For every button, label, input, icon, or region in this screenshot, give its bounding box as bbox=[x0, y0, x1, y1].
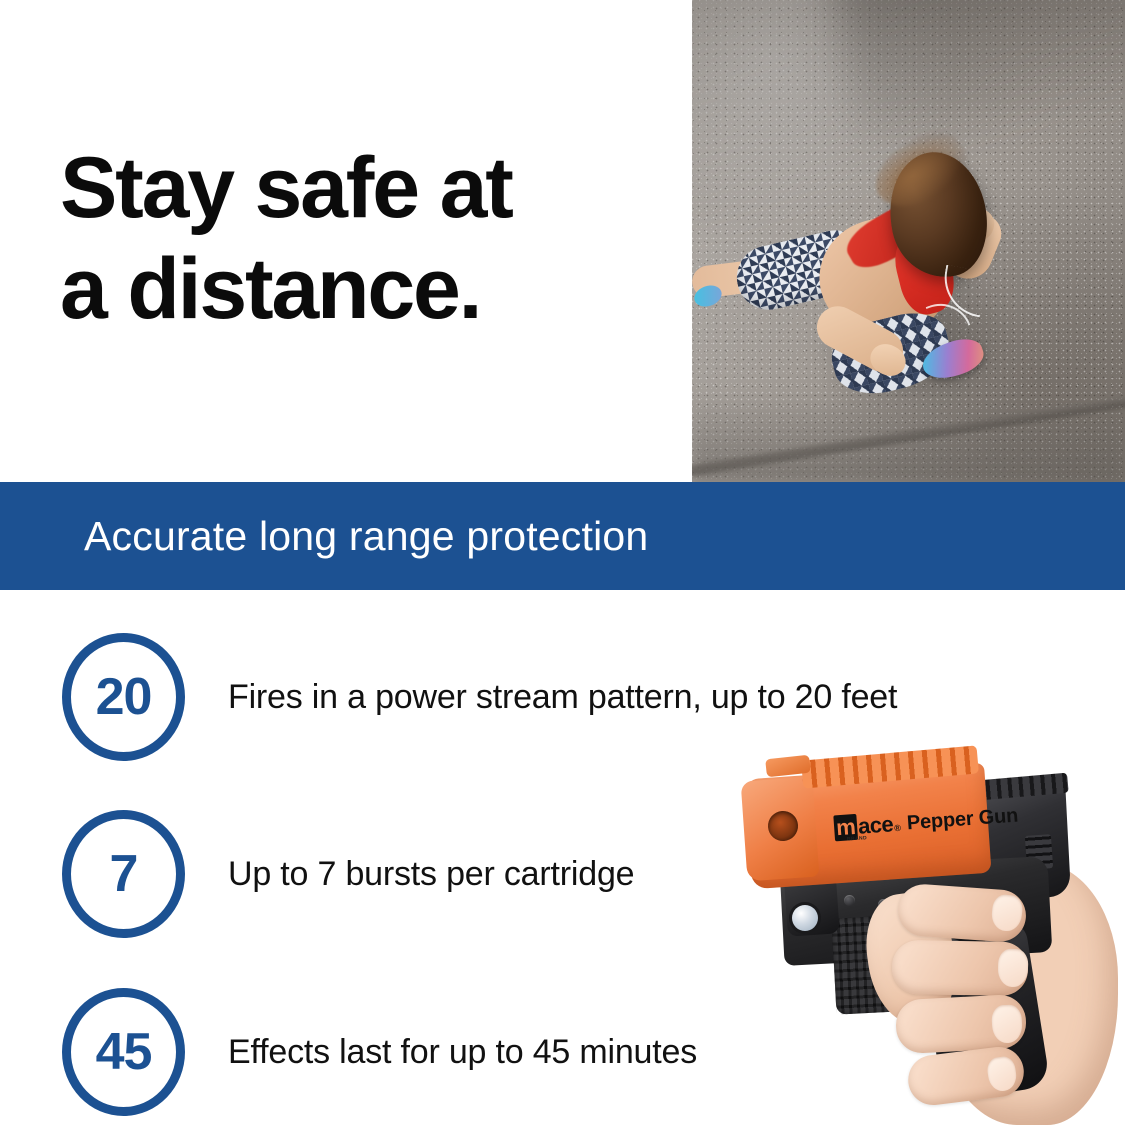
feature-badge-45: 45 bbox=[62, 988, 185, 1116]
feature-badge-7: 7 bbox=[62, 810, 185, 938]
feature-text-range: Fires in a power stream pattern, up to 2… bbox=[228, 678, 1058, 717]
mace-logo: mace® BRAND bbox=[833, 811, 901, 842]
lifestyle-photo-runner bbox=[692, 0, 1125, 482]
runner-figure bbox=[692, 0, 1125, 482]
section-banner: Accurate long range protection bbox=[0, 482, 1125, 590]
product-photo-pepper-gun: mace® BRAND Pepper Gun bbox=[740, 735, 1125, 1125]
hero-section: Stay safe at a distance. bbox=[0, 0, 1125, 482]
page-title: Stay safe at a distance. bbox=[60, 138, 680, 341]
gun-screw bbox=[844, 895, 855, 906]
banner-title: Accurate long range protection bbox=[84, 482, 648, 590]
feature-badge-20: 20 bbox=[62, 633, 185, 761]
product-infographic-page: Stay safe at a distance. bbox=[0, 0, 1125, 1125]
gun-led-lens bbox=[792, 905, 818, 931]
registered-trademark-icon: ® bbox=[894, 823, 901, 833]
